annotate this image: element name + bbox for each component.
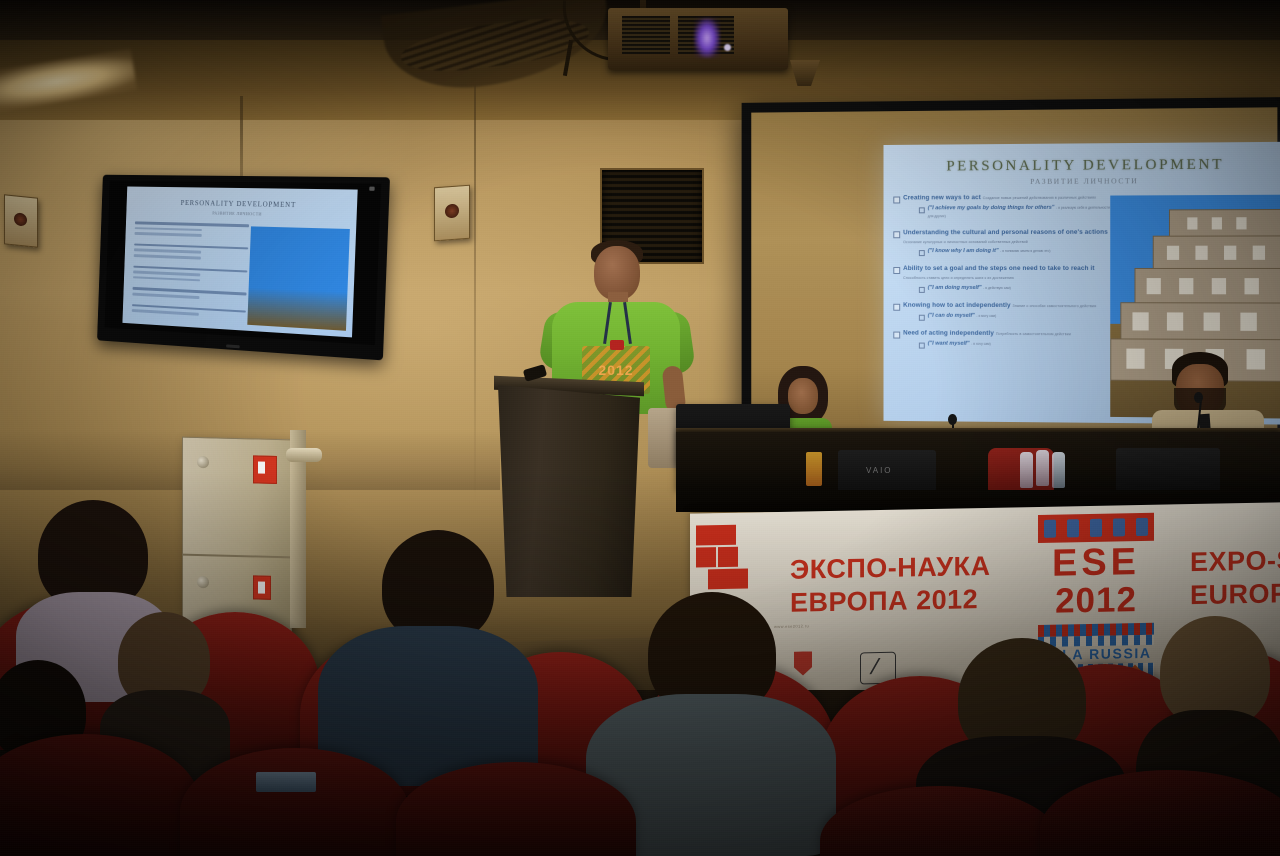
slide-bullet: Ability to set a goal and the steps one … xyxy=(893,265,1110,292)
bullet-quote-en: ("I can do myself" xyxy=(928,312,975,318)
bullet-text-en: Creating new ways to act xyxy=(903,194,981,201)
bullet-text-en: Understanding the cultural and personal … xyxy=(903,229,1108,236)
wall-speaker-right xyxy=(434,185,470,242)
slide-title: PERSONALITY DEVELOPMENT xyxy=(883,156,1280,176)
monitor-brand-label xyxy=(226,344,240,348)
slide-bullet: Understanding the cultural and personal … xyxy=(893,229,1110,257)
laptop-brand-label: VAIO xyxy=(866,466,893,475)
bullet-sub-checkbox-icon xyxy=(919,342,925,348)
monitor-slide-subtitle: РАЗВИТИЕ ЛИЧНОСТИ xyxy=(126,209,356,219)
fire-hose-sign-icon xyxy=(253,455,277,484)
bullet-text-ru: Осознание культурных и личностных основа… xyxy=(903,240,1028,244)
ceiling-projector xyxy=(608,8,788,70)
bullet-text-en: Knowing how to act independently xyxy=(903,301,1011,308)
bullet-checkbox-icon xyxy=(893,197,900,204)
lanyard-badge xyxy=(610,340,624,350)
banner-ru-line1: ЭКСПО-НАУКА xyxy=(790,549,1020,586)
banner-russian-title: ЭКСПО-НАУКА ЕВРОПА 2012 xyxy=(790,549,1020,619)
tula-coat-of-arms-icon xyxy=(794,651,812,675)
monitor-slide-mirror: PERSONALITY DEVELOPMENT РАЗВИТИЕ ЛИЧНОСТ… xyxy=(122,186,357,337)
logo-year: 2012 xyxy=(1040,579,1152,623)
fire-extinguisher-sign-icon xyxy=(253,575,271,599)
bullet-checkbox-icon xyxy=(893,231,900,238)
bullet-quote-en: ("I know why I am doing it" xyxy=(928,248,999,254)
audience-laptop-screen xyxy=(256,772,316,792)
slide-bullet-list: Creating new ways to act Создание новых … xyxy=(893,194,1110,359)
logo-folk-icons-top xyxy=(1038,515,1154,541)
speaker-cone-icon xyxy=(445,204,459,219)
slide-subtitle: РАЗВИТИЕ ЛИЧНОСТИ xyxy=(883,175,1280,186)
speaker-cone-icon xyxy=(14,212,27,226)
water-bottle xyxy=(1020,452,1033,488)
bullet-checkbox-icon xyxy=(893,267,900,274)
tshirt-year-text: 2012 xyxy=(588,362,644,378)
bullet-sub-checkbox-icon xyxy=(919,287,925,293)
bullet-checkbox-icon xyxy=(893,331,900,338)
banner-ornament-left xyxy=(696,524,752,591)
podium xyxy=(498,385,640,597)
bullet-sub-checkbox-icon xyxy=(919,314,925,320)
wall-mounted-monitor: PERSONALITY DEVELOPMENT РАЗВИТИЕ ЛИЧНОСТ… xyxy=(97,175,390,361)
microphone-head-icon xyxy=(948,414,957,425)
bullet-sub-checkbox-icon xyxy=(919,207,925,213)
wall-speaker-left xyxy=(4,194,38,248)
bullet-checkbox-icon xyxy=(893,303,900,310)
bullet-quote-en: ("I want myself" xyxy=(928,340,970,346)
bullet-quote-ru: - я понимаю зачем я делаю это) xyxy=(1000,249,1050,253)
cabinet-divider xyxy=(183,554,291,559)
bullet-quote-en: ("I achieve my goals by doing things for… xyxy=(928,205,1055,211)
banner-ru-line2: ЕВРОПА 2012 xyxy=(790,582,1020,619)
projector-indicator-led xyxy=(724,44,731,51)
banner-en-line2: EUROPE 2012 xyxy=(1190,577,1280,612)
banner-fineprint: www.ese2012.ru xyxy=(774,623,809,629)
snack-package xyxy=(806,452,822,486)
monitor-power-led xyxy=(369,187,374,191)
laptop-right xyxy=(1116,448,1220,492)
bullet-text-en: Ability to set a goal and the steps one … xyxy=(903,265,1094,272)
fire-hose-cabinet xyxy=(182,437,292,632)
slide-bullet: Knowing how to act independently Знание … xyxy=(893,301,1110,321)
conference-hall-photo: PERSONALITY DEVELOPMENT РАЗВИТИЕ ЛИЧНОСТ… xyxy=(0,0,1280,856)
water-bottle xyxy=(1036,450,1049,486)
slide-bullet: Need of acting independently Потребность… xyxy=(893,329,1110,349)
bullet-text-ru: Способность ставить цели и определять ша… xyxy=(903,276,1014,280)
panelist-woman-face xyxy=(788,378,818,414)
bullet-text-ru: Создание новых решений действования в ра… xyxy=(983,196,1096,201)
pipe-valve xyxy=(286,448,322,462)
bullet-quote-ru: - я могу сам) xyxy=(976,314,996,318)
bullet-quote-ru: - я действую сам) xyxy=(983,286,1011,290)
bullet-sub-checkbox-icon xyxy=(919,250,925,256)
water-bottle xyxy=(1052,452,1065,488)
sponsor-logo-mark xyxy=(866,658,888,674)
banner-english-title: EXPO-SCIENCES EUROPE 2012 xyxy=(1190,544,1280,612)
cabinet-latch-icon xyxy=(197,576,209,588)
monitor-slide-image xyxy=(247,226,350,330)
bullet-text-ru: Знание о способах самостоятельного дейст… xyxy=(1013,304,1097,308)
bullet-text-en: Need of acting independently xyxy=(903,329,994,336)
slide-bullet: Creating new ways to act Создание новых … xyxy=(893,194,1110,221)
bullet-text-ru: Потребность в самостоятельном действии xyxy=(996,332,1071,336)
bullet-quote-en: ("I am doing myself" xyxy=(928,285,982,291)
projector-lamp-glow xyxy=(694,18,720,58)
microphone-head-icon xyxy=(1194,392,1203,403)
bullet-quote-ru: - я хочу сам) xyxy=(971,341,991,345)
projector-vent-icon xyxy=(622,16,670,54)
cabinet-latch-icon xyxy=(197,456,209,468)
monitor-slide-bullet-lines xyxy=(132,221,249,321)
banner-en-line1: EXPO-SCIENCES xyxy=(1190,544,1280,579)
